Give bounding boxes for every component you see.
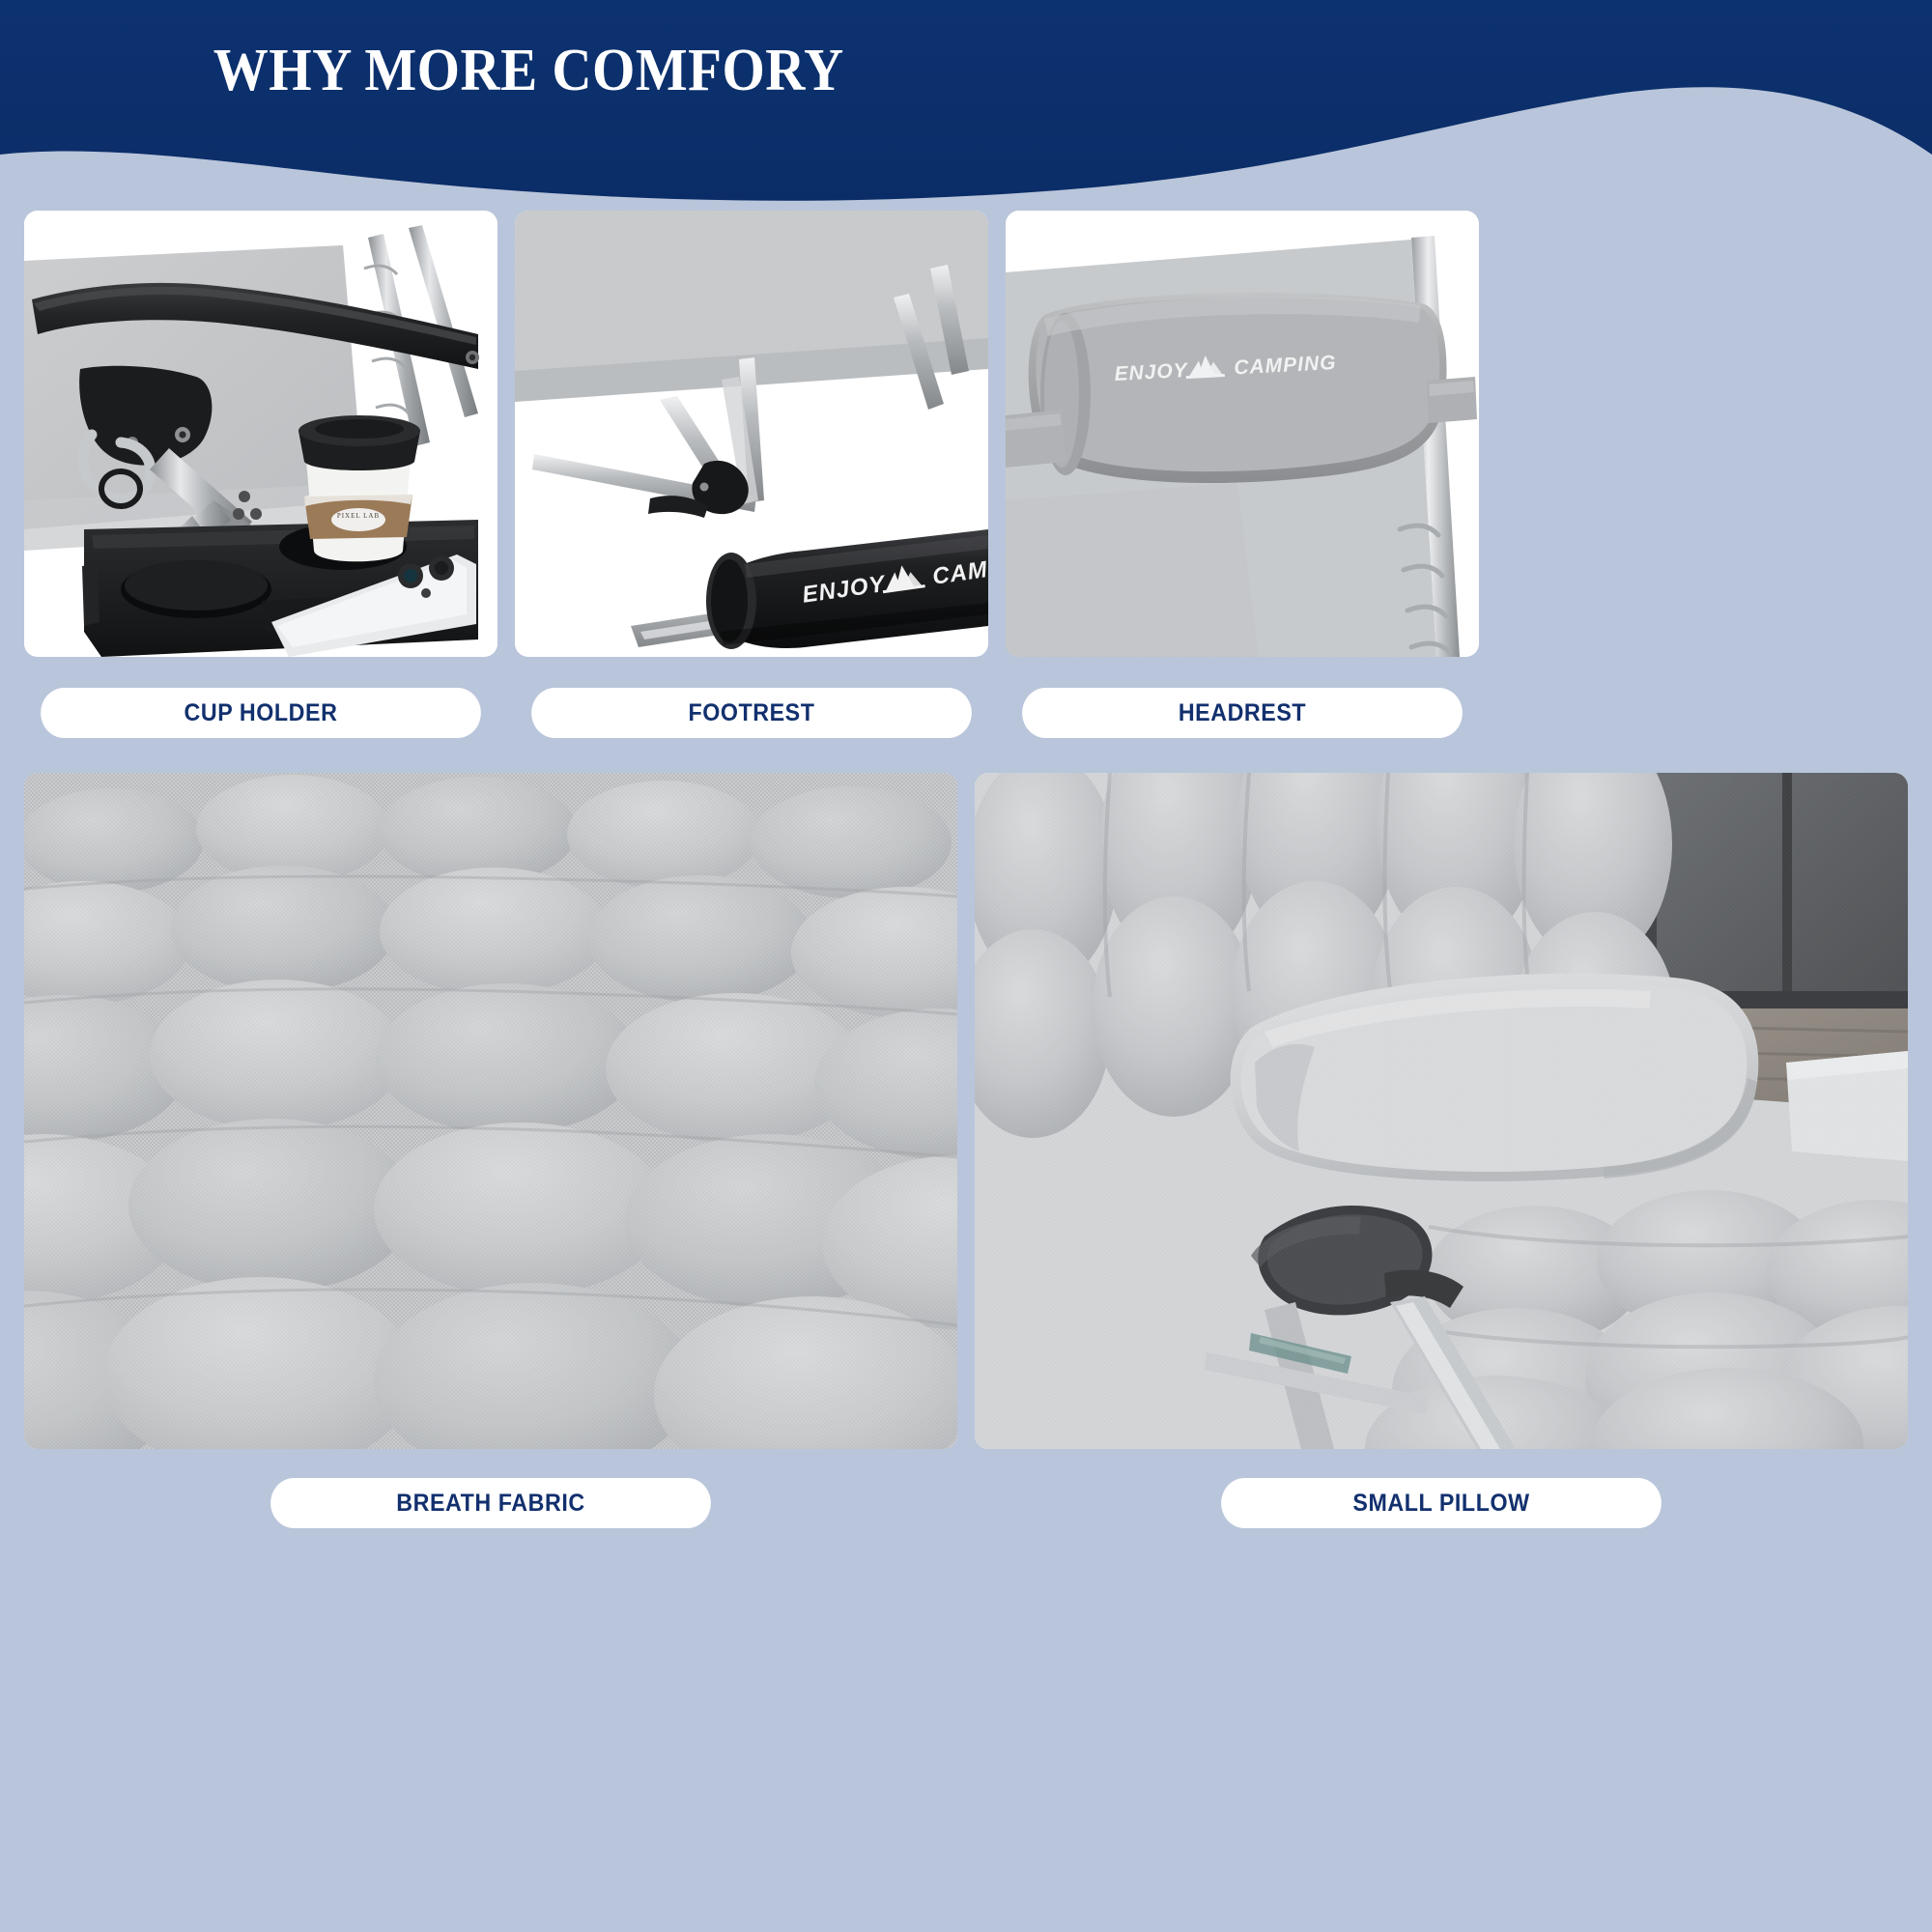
svg-text:PIXEL LAB: PIXEL LAB [337, 512, 380, 520]
feature-label-footrest[interactable]: FOOTREST [531, 688, 972, 738]
page-title: WHY MORE COMFORY [0, 37, 1777, 105]
label-slot-breath-fabric: BREATH FABRIC [24, 1478, 957, 1528]
feature-row-bottom [24, 773, 1908, 1449]
svg-text:ENJOY: ENJOY [1114, 359, 1189, 385]
feature-image-headrest: ENJOY CAMPING [1006, 211, 1479, 657]
feature-image-breath-fabric [24, 773, 957, 1449]
feature-row-top: PIXEL LAB [24, 211, 1908, 657]
header-banner [0, 0, 1932, 222]
feature-image-small-pillow [975, 773, 1908, 1449]
feature-label-headrest[interactable]: HEADREST [1022, 688, 1463, 738]
feature-label-row-top: CUP HOLDER FOOTREST HEADREST [24, 688, 1908, 738]
infographic-page: WHY MORE COMFORY [0, 0, 1932, 1932]
feature-label-breath-fabric[interactable]: BREATH FABRIC [270, 1478, 711, 1528]
feature-label-cup-holder[interactable]: CUP HOLDER [41, 688, 481, 738]
feature-label-small-pillow[interactable]: SMALL PILLOW [1221, 1478, 1662, 1528]
feature-label-row-bottom: BREATH FABRIC SMALL PILLOW [24, 1478, 1908, 1528]
label-slot-small-pillow: SMALL PILLOW [975, 1478, 1908, 1528]
feature-image-cup-holder: PIXEL LAB [24, 211, 497, 657]
feature-image-footrest: ENJOY CAMPING [515, 211, 988, 657]
